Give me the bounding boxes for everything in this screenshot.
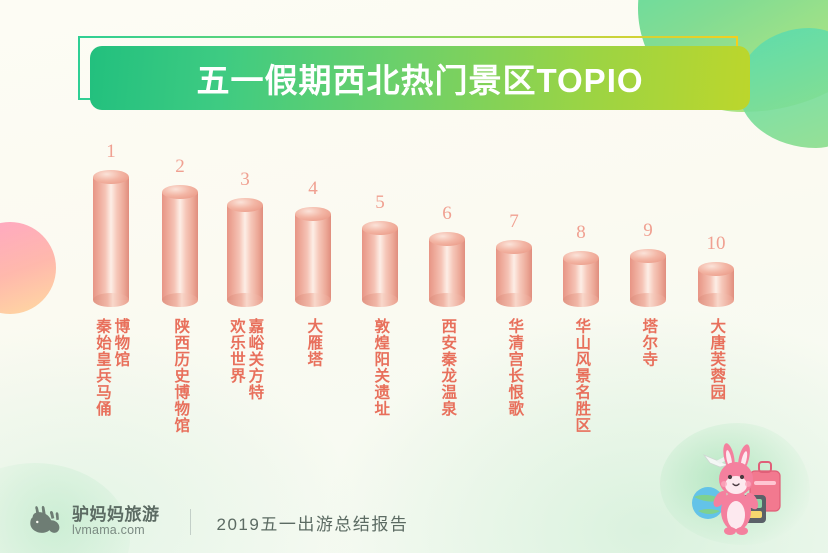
bar-column[interactable]: 7华清宫长恨歌 — [479, 0, 549, 553]
bar-cylinder-cap — [630, 249, 666, 263]
bar-cylinder — [563, 251, 599, 307]
bar-cylinder — [362, 221, 398, 307]
bar-label-column: 西安秦龙温泉 — [439, 318, 455, 417]
bar-column[interactable]: 1博物馆秦始皇兵马俑 — [76, 0, 146, 553]
bar-cylinder-body — [295, 214, 331, 300]
bar-label-column: 塔尔寺 — [640, 318, 656, 368]
footer-divider — [190, 509, 191, 535]
bar-rank-number: 10 — [681, 234, 751, 253]
bar-cylinder — [630, 249, 666, 307]
bar-column[interactable]: 5敦煌阳关遗址 — [345, 0, 415, 553]
brand-logo-text: 驴妈妈旅游 lvmama.com — [72, 506, 160, 538]
bar-rank-number: 4 — [278, 179, 348, 198]
bar-label: 博物馆秦始皇兵马俑 — [94, 318, 129, 417]
bar-label: 大雁塔 — [305, 318, 321, 368]
bar-cylinder-body — [93, 177, 129, 300]
bar-label-column: 大唐芙蓉园 — [708, 318, 724, 401]
bar-cylinder-cap — [162, 185, 198, 199]
bar-label-column: 大雁塔 — [305, 318, 321, 368]
bar-cylinder-base — [496, 293, 532, 307]
bar-cylinder — [295, 207, 331, 307]
bar-cylinder-base — [563, 293, 599, 307]
bar-label-column: 欢乐世界 — [228, 318, 244, 401]
bar-label-column: 华清宫长恨歌 — [506, 318, 522, 417]
bar-cylinder-base — [630, 293, 666, 307]
bar-cylinder — [227, 198, 263, 307]
bar-cylinder — [496, 240, 532, 307]
bar-column[interactable]: 4大雁塔 — [278, 0, 348, 553]
rabbit-logo-icon — [26, 505, 64, 539]
bar-label: 陕西历史博物馆 — [172, 318, 188, 434]
brand-name-en: lvmama.com — [72, 524, 160, 538]
bar-cylinder-base — [93, 293, 129, 307]
bar-label-column: 陕西历史博物馆 — [172, 318, 188, 434]
bar-cylinder-body — [429, 239, 465, 300]
bar-cylinder-base — [362, 293, 398, 307]
bar-rank-number: 3 — [210, 170, 280, 189]
bar-label-column: 嘉峪关方特 — [246, 318, 262, 401]
bar-cylinder-cap — [698, 262, 734, 276]
bar-cylinder-base — [162, 293, 198, 307]
bar-cylinder — [93, 170, 129, 307]
bar-label: 华山风景名胜区 — [573, 318, 589, 434]
brand-logo[interactable]: 驴妈妈旅游 lvmama.com — [26, 505, 160, 539]
bar-label: 华清宫长恨歌 — [506, 318, 522, 417]
bar-cylinder-cap — [429, 232, 465, 246]
bar-cylinder-cap — [362, 221, 398, 235]
bar-label-column: 秦始皇兵马俑 — [94, 318, 110, 417]
bar-rank-number: 7 — [479, 212, 549, 231]
bar-label-column: 博物馆 — [112, 318, 128, 417]
rabbit-mascot-icon — [680, 437, 792, 539]
bar-cylinder-base — [698, 293, 734, 307]
bar-cylinder-body — [162, 192, 198, 300]
bar-rank-number: 6 — [412, 204, 482, 223]
bar-cylinder — [698, 262, 734, 307]
bar-column[interactable]: 9塔尔寺 — [613, 0, 683, 553]
bar-column[interactable]: 3嘉峪关方特欢乐世界 — [210, 0, 280, 553]
bar-cylinder-base — [429, 293, 465, 307]
bar-cylinder — [429, 232, 465, 307]
bar-cylinder-cap — [496, 240, 532, 254]
infographic-page: 五一假期西北热门景区TOPIO 1博物馆秦始皇兵马俑2陕西历史博物馆3嘉峪关方特… — [0, 0, 828, 553]
bar-column[interactable]: 6西安秦龙温泉 — [412, 0, 482, 553]
footer-caption: 2019五一出游总结报告 — [217, 510, 409, 535]
bar-cylinder-base — [227, 293, 263, 307]
bar-label: 西安秦龙温泉 — [439, 318, 455, 417]
bar-rank-number: 5 — [345, 193, 415, 212]
bar-cylinder-body — [362, 228, 398, 300]
bar-label: 塔尔寺 — [640, 318, 656, 368]
bar-rank-number: 8 — [546, 223, 616, 242]
bar-label: 嘉峪关方特欢乐世界 — [228, 318, 263, 401]
bar-rank-number: 2 — [145, 157, 215, 176]
bar-label-column: 敦煌阳关遗址 — [372, 318, 388, 417]
bar-label-column: 华山风景名胜区 — [573, 318, 589, 434]
bar-column[interactable]: 2陕西历史博物馆 — [145, 0, 215, 553]
bar-column[interactable]: 8华山风景名胜区 — [546, 0, 616, 553]
bar-cylinder-base — [295, 293, 331, 307]
bar-rank-number: 9 — [613, 221, 683, 240]
bar-cylinder-cap — [227, 198, 263, 212]
bar-label: 大唐芙蓉园 — [708, 318, 724, 401]
bar-cylinder — [162, 185, 198, 307]
bar-cylinder-cap — [93, 170, 129, 184]
bar-cylinder-cap — [295, 207, 331, 221]
brand-name-cn: 驴妈妈旅游 — [72, 506, 160, 524]
bar-label: 敦煌阳关遗址 — [372, 318, 388, 417]
bar-rank-number: 1 — [76, 142, 146, 161]
bar-cylinder-body — [227, 205, 263, 300]
bar-cylinder-cap — [563, 251, 599, 265]
